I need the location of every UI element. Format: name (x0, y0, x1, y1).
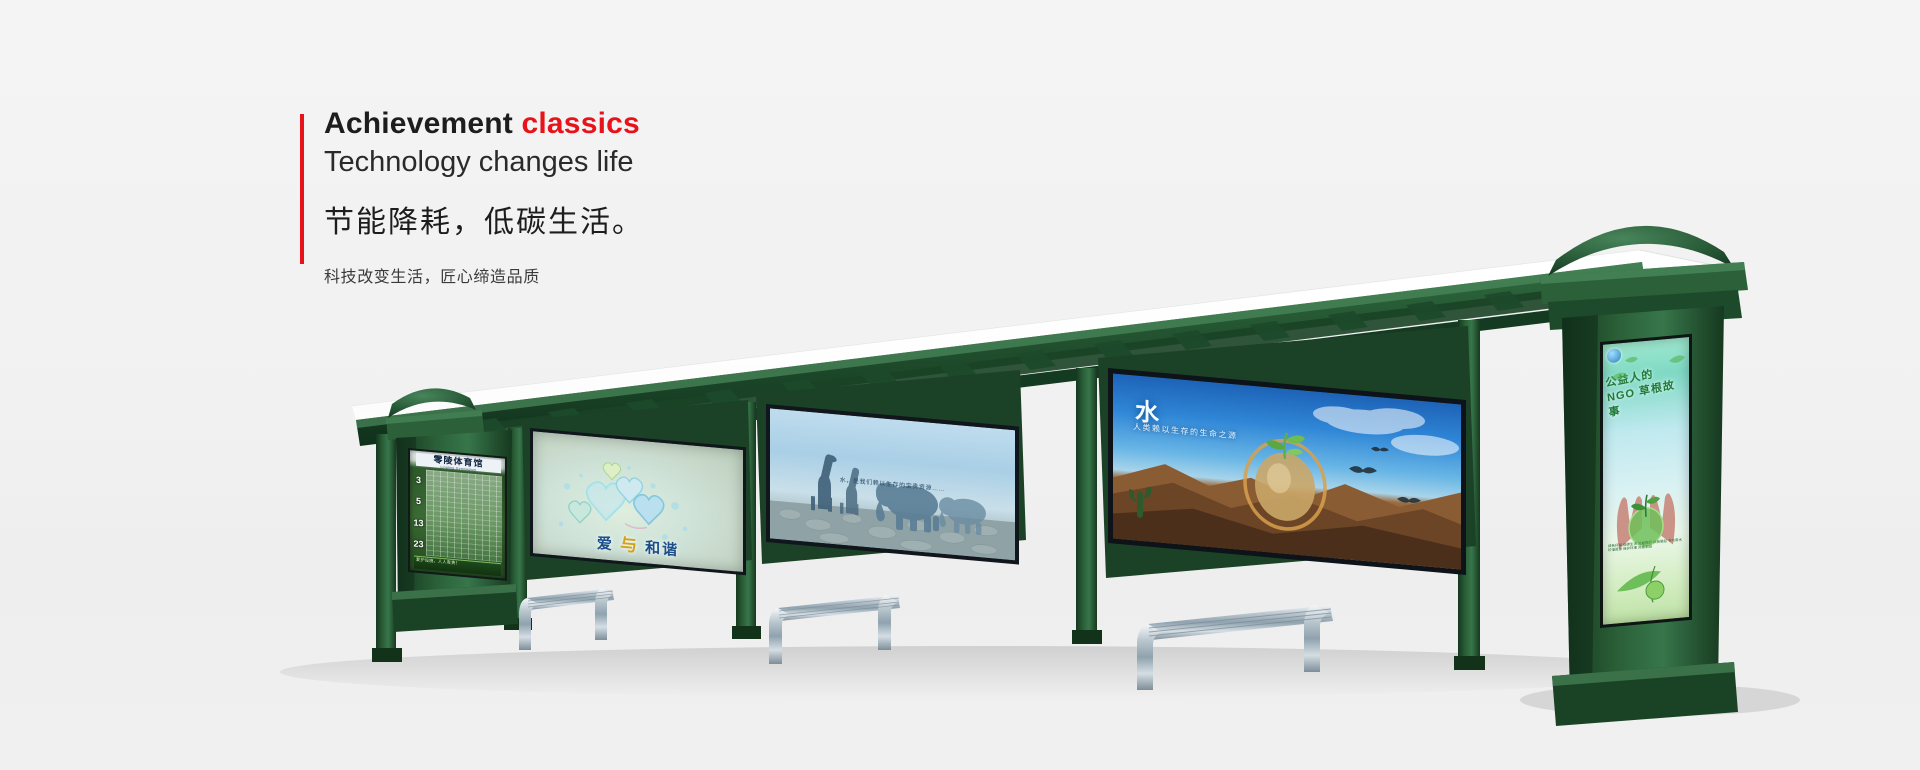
info-board-route-grid (426, 470, 502, 563)
route-number: 13 (412, 517, 425, 528)
scene-canvas: Achievement classics Technology changes … (0, 0, 1920, 770)
lightbox-heart-ad[interactable]: 爱 与 和谐 (530, 428, 746, 575)
info-board-route-numbers: 3 5 13 23 (412, 468, 425, 555)
lightbox-water-ad[interactable]: 水 人类赖以生存的生命之源 (1108, 368, 1466, 575)
route-number: 5 (412, 496, 425, 507)
eco-ad-body-text: 绿色环保 低碳生活 公益先行 从我做起 节约用水 珍惜资源 保护环境 共建家园 (1608, 538, 1684, 619)
heart-ad-caption-a: 爱 (597, 535, 614, 554)
lightbox-animal-ad[interactable]: 水，是我们赖以生存的宝贵资源…… (766, 404, 1019, 565)
lightbox-vertical-eco-ad[interactable]: 公益人的 NGO 草根故事 绿色环保 低碳生活 公益先行 从我做 (1600, 334, 1692, 628)
bench (519, 588, 614, 650)
route-number: 3 (412, 474, 425, 485)
heart-ad-caption-c: 和谐 (645, 539, 679, 559)
route-number: 23 (412, 539, 425, 550)
heart-ad-caption-b: 与 (620, 535, 639, 556)
eco-ad-decor-leaves (1611, 352, 1685, 380)
lightbox-info-board[interactable]: 零陵体育馆 Lingling Gymnasium 3 5 13 23 爱护设施，… (408, 448, 507, 581)
